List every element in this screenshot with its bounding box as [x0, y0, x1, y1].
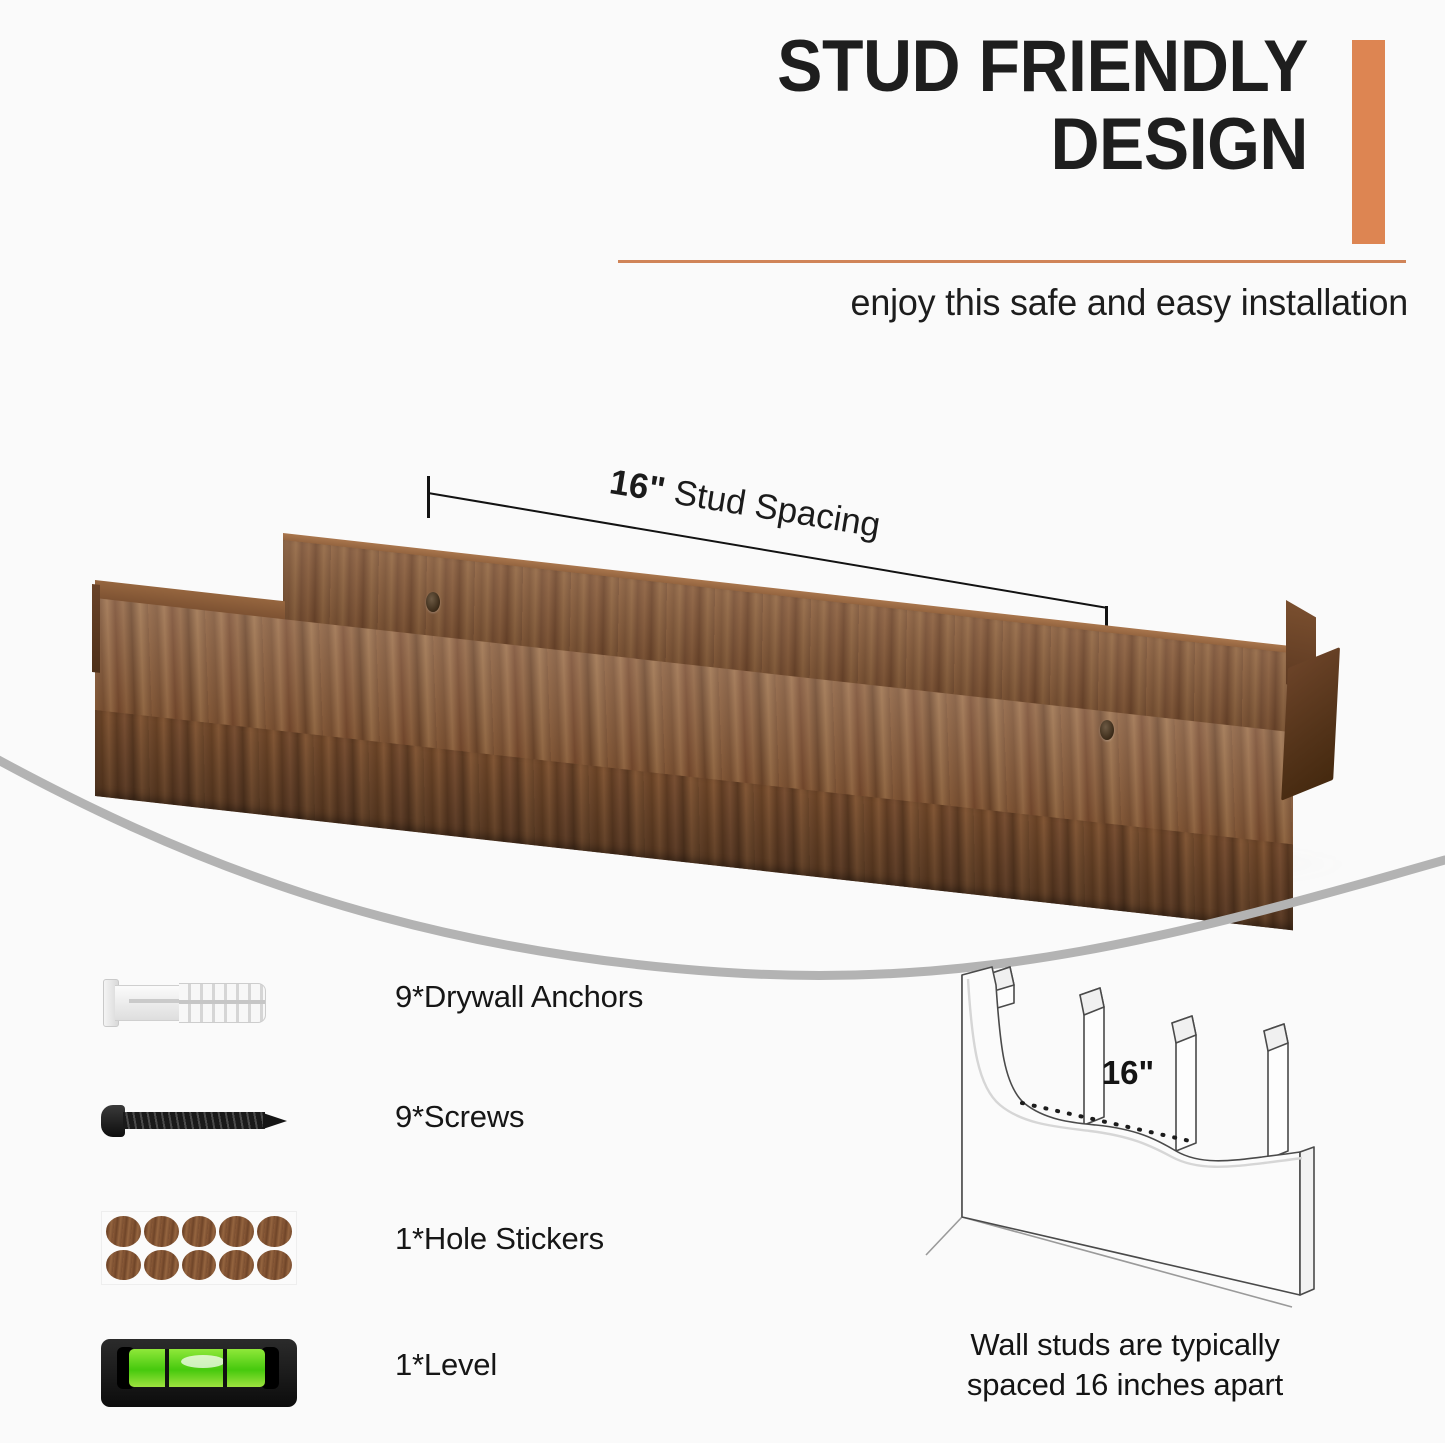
- wall-diagram-svg: 16": [900, 945, 1350, 1325]
- accent-bar: [1352, 40, 1385, 244]
- divider-curve-path: [0, 750, 1445, 975]
- stud-spacing-text: Stud Spacing: [662, 471, 883, 545]
- title-line-2: DESIGN: [657, 110, 1308, 180]
- header: STUD FRIENDLY DESIGN enjoy this safe and…: [600, 18, 1420, 338]
- sticker-dot: [106, 1216, 141, 1247]
- stud-spacing-label: 16" Stud Spacing: [607, 462, 883, 546]
- sticker-dot: [257, 1250, 292, 1281]
- part-label-drywall-anchors: 9*Drywall Anchors: [395, 979, 643, 1015]
- wall-diagram-measurement: 16": [1102, 1054, 1154, 1091]
- sticker-dot: [257, 1216, 292, 1247]
- dimension-end-cap-left: [427, 476, 430, 518]
- header-subtitle: enjoy this safe and easy installation: [632, 282, 1408, 324]
- drywall-anchor-icon: [95, 965, 320, 1045]
- sticker-dot: [182, 1250, 217, 1281]
- part-row-screws: 9*Screws: [95, 1085, 715, 1195]
- sticker-dot: [144, 1250, 179, 1281]
- part-row-level: 1*Level: [95, 1333, 715, 1443]
- header-divider-rule: [618, 260, 1406, 263]
- stud-spacing-value: 16": [607, 462, 668, 509]
- hole-sticker-icon: [95, 1207, 320, 1287]
- infographic-stage: STUD FRIENDLY DESIGN enjoy this safe and…: [0, 0, 1445, 1423]
- part-label-screws: 9*Screws: [395, 1099, 524, 1135]
- parts-list: 9*Drywall Anchors 9*Screws: [95, 965, 715, 1415]
- shelf-left-end-cap: [92, 584, 100, 673]
- part-row-drywall-anchors: 9*Drywall Anchors: [95, 965, 715, 1075]
- mounting-hole-right: [1100, 720, 1114, 740]
- part-label-hole-stickers: 1*Hole Stickers: [395, 1221, 604, 1257]
- part-label-level: 1*Level: [395, 1347, 497, 1383]
- mounting-hole-left: [426, 592, 440, 612]
- sticker-sheet: [101, 1211, 297, 1285]
- title-line-1: STUD FRIENDLY: [777, 26, 1308, 107]
- part-row-hole-stickers: 1*Hole Stickers: [95, 1207, 715, 1317]
- wall-caption-line-1: Wall studs are typically: [905, 1325, 1345, 1365]
- screw-icon: [95, 1085, 320, 1165]
- wall-caption-line-2: spaced 16 inches apart: [905, 1365, 1345, 1405]
- wall-diagram-caption: Wall studs are typically spaced 16 inche…: [905, 1325, 1345, 1404]
- sticker-dot: [106, 1250, 141, 1281]
- sticker-dot: [219, 1250, 254, 1281]
- page-title: STUD FRIENDLY DESIGN: [657, 32, 1308, 180]
- sticker-dot: [219, 1216, 254, 1247]
- sticker-dot: [182, 1216, 217, 1247]
- sticker-dot: [144, 1216, 179, 1247]
- bubble-level-icon: [95, 1333, 320, 1413]
- wall-stud-diagram: 16": [900, 945, 1350, 1325]
